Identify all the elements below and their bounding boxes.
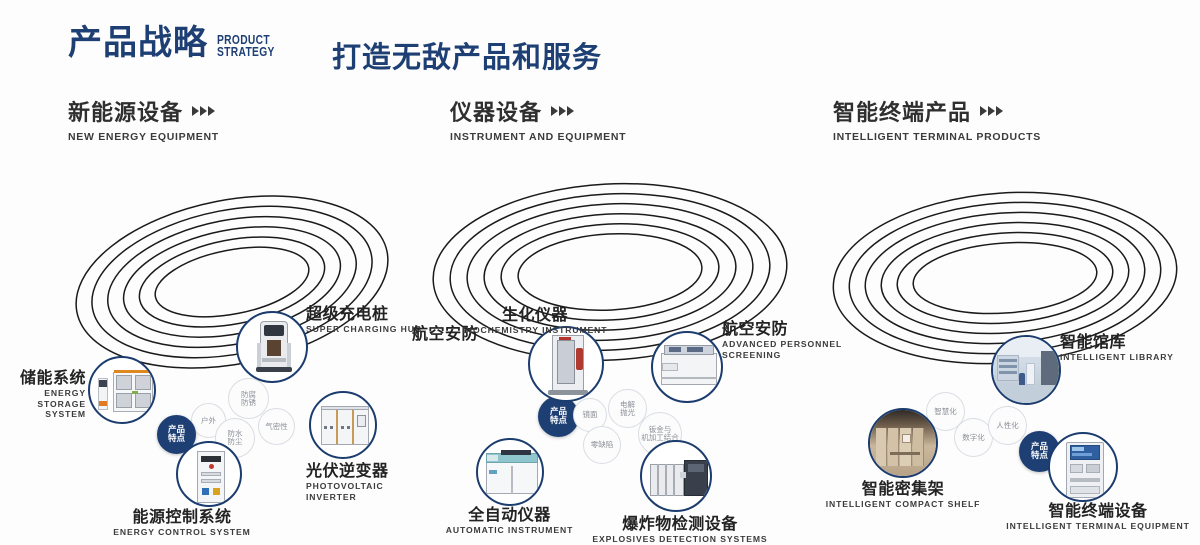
- screening-machine-icon: [653, 333, 721, 401]
- label-intelligent-compact-shelf: 智能密集架 INTELLIGENT COMPACT SHELF: [805, 480, 1001, 510]
- automatic-analyzer-icon: [478, 440, 542, 504]
- section-title-cn: 仪器设备: [450, 95, 542, 127]
- label-intelligent-library: 智能馆库 INTELLIGENT LIBRARY: [1060, 333, 1190, 363]
- control-cabinet-icon: [178, 443, 240, 505]
- explosives-detector-icon: [642, 442, 710, 510]
- compact-shelf-icon: [870, 410, 936, 476]
- node-advanced-personnel-screening[interactable]: [651, 331, 723, 403]
- section-title-new-energy: 新能源设备 NEW ENERGY EQUIPMENT: [68, 95, 219, 143]
- node-intelligent-library[interactable]: [991, 335, 1061, 405]
- node-automatic-instrument[interactable]: [476, 438, 544, 506]
- cluster-instrument: 产品 特点 镜面 电解 抛光 零缺陷 钣金与 机加工结合 航空安防: [400, 150, 820, 400]
- cluster-new-energy: 户外 防腐 防锈 防水 防尘 气密性 产品 特点: [0, 150, 420, 400]
- orbit-rings-new-energy: [0, 150, 420, 400]
- self-service-kiosk-icon: [1050, 434, 1116, 500]
- feature-bubble-humanization: 人性化: [988, 406, 1027, 445]
- charging-pile-icon: [238, 313, 306, 381]
- orbit-rings-instrument: [400, 150, 820, 400]
- chevron-right-icon: [980, 106, 1003, 116]
- node-photovoltaic-inverter[interactable]: [309, 391, 377, 459]
- node-explosives-detection-systems[interactable]: [640, 440, 712, 512]
- biochem-scanner-icon: [530, 328, 602, 400]
- feature-bubble-zero-defect: 零缺陷: [583, 426, 621, 464]
- label-photovoltaic-inverter: 光伏逆变器 PHOTOVOLTAIC INVERTER: [306, 462, 436, 502]
- node-energy-storage-system[interactable]: [88, 356, 156, 424]
- page-title-en: PRODUCT STRATEGY: [217, 34, 275, 58]
- feature-bubble-airtight: 气密性: [258, 408, 295, 445]
- node-intelligent-compact-shelf[interactable]: [868, 408, 938, 478]
- chevron-right-icon: [551, 106, 574, 116]
- label-intelligent-terminal-equipment: 智能终端设备 INTELLIGENT TERMINAL EQUIPMENT: [998, 502, 1198, 532]
- label-energy-storage-system: 储能系统 ENERGY STORAGE SYSTEM: [0, 369, 86, 420]
- section-title-en: INTELLIGENT TERMINAL PRODUCTS: [833, 131, 1041, 143]
- library-room-icon: [993, 337, 1059, 403]
- section-title-cn: 新能源设备: [68, 95, 183, 127]
- node-biochemistry-instrument[interactable]: [528, 326, 604, 402]
- poster-canvas: 产品战略 PRODUCT STRATEGY 打造无敌产品和服务 新能源设备 NE…: [0, 0, 1200, 422]
- label-explosives-detection-systems: 爆炸物检测设备 EXPLOSIVES DETECTION SYSTEMS: [580, 515, 780, 545]
- node-intelligent-terminal-equipment[interactable]: [1048, 432, 1118, 502]
- inverter-cabinet-icon: [311, 393, 375, 457]
- page-title-cn: 产品战略: [68, 26, 208, 60]
- section-title-en: NEW ENERGY EQUIPMENT: [68, 131, 219, 143]
- section-title-en: INSTRUMENT AND EQUIPMENT: [450, 131, 626, 143]
- chevron-right-icon: [192, 106, 215, 116]
- node-super-charging-hub[interactable]: [236, 311, 308, 383]
- node-energy-control-system[interactable]: [176, 441, 242, 507]
- section-title-instrument: 仪器设备 INSTRUMENT AND EQUIPMENT: [450, 95, 626, 143]
- label-energy-control-system: 能源控制系统 ENERGY CONTROL SYSTEM: [82, 508, 282, 538]
- cluster-intelligent-terminal: 智慧化 数字化 人性化 产品 特点: [800, 150, 1200, 400]
- section-title-intelligent-terminal: 智能终端产品 INTELLIGENT TERMINAL PRODUCTS: [833, 95, 1041, 143]
- label-biochemistry-instrument: 生化仪器 BIOCHEMISTRY INSTRUMENT: [460, 306, 610, 336]
- page-slogan: 打造无敌产品和服务: [332, 34, 602, 76]
- page-title: 产品战略 PRODUCT STRATEGY: [68, 26, 287, 60]
- label-automatic-instrument: 全自动仪器 AUTOMATIC INSTRUMENT: [412, 506, 607, 536]
- battery-cabinet-icon: [90, 358, 154, 422]
- page-title-en-line2: STRATEGY: [217, 46, 275, 58]
- section-title-cn: 智能终端产品: [833, 95, 971, 127]
